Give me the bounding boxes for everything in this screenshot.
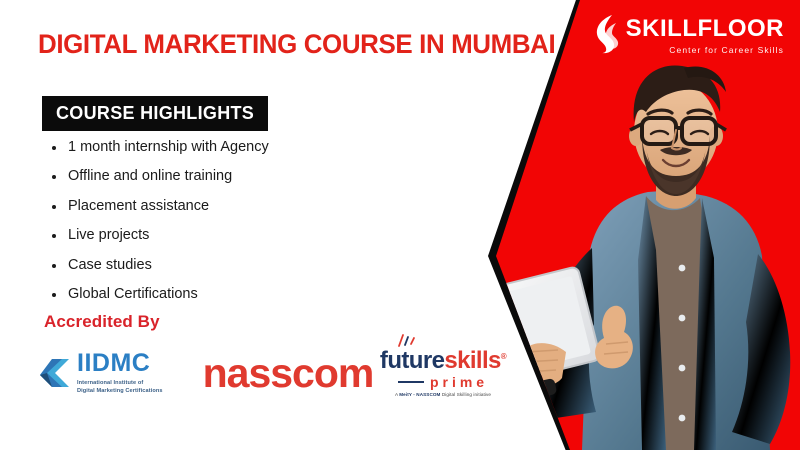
registered-mark: ® bbox=[501, 352, 506, 361]
logo-tagline: Center for Career Skills bbox=[626, 45, 784, 55]
futureskills-initiative-note: A MeitY - NASSCOM Digital Skilling initi… bbox=[378, 393, 508, 398]
list-item: Offline and online training bbox=[48, 169, 269, 185]
futureskills-part-future: future bbox=[380, 347, 444, 374]
list-item: Placement assistance bbox=[48, 199, 269, 215]
iidmc-wordmark: IIDMC bbox=[77, 351, 163, 376]
person-with-tablet-photo bbox=[470, 0, 800, 450]
accreditor-logos: IIDMC International Institute of Digital… bbox=[38, 342, 508, 404]
iidmc-tagline-line1: International Institute of bbox=[77, 379, 163, 387]
list-item: Case studies bbox=[48, 258, 269, 274]
iidmc-tagline-line2: Digital Marketing Certifications bbox=[77, 387, 163, 395]
prime-rule bbox=[398, 381, 424, 383]
promo-banner: SKILLFLOOR Center for Career Skills DIGI… bbox=[0, 0, 800, 450]
iidmc-diamond-arrow-icon bbox=[38, 356, 72, 390]
futureskills-part-prime: prime bbox=[430, 375, 488, 389]
sparkle-icon bbox=[396, 333, 418, 349]
logo-wordmark: SKILLFLOOR bbox=[626, 17, 784, 41]
list-item: Live projects bbox=[48, 228, 269, 244]
accredited-by-heading: Accredited By bbox=[44, 312, 160, 332]
content-area: DIGITAL MARKETING COURSE IN MUMBAI COURS… bbox=[0, 0, 500, 450]
note-bold: MeitY - NASSCOM bbox=[399, 392, 440, 397]
list-item: Global Certifications bbox=[48, 287, 269, 303]
iidmc-logo: IIDMC International Institute of Digital… bbox=[38, 351, 198, 396]
list-item: 1 month internship with Agency bbox=[48, 140, 269, 156]
skillfloor-flame-s-icon bbox=[593, 14, 621, 54]
nasscom-logo: nasscom bbox=[198, 353, 378, 394]
course-highlights-badge: COURSE HIGHLIGHTS bbox=[42, 96, 268, 131]
skillfloor-logo[interactable]: SKILLFLOOR Center for Career Skills bbox=[593, 14, 784, 55]
page-title: DIGITAL MARKETING COURSE IN MUMBAI bbox=[38, 30, 555, 58]
note-suffix: Digital Skilling initiative bbox=[440, 392, 491, 397]
futureskills-prime-logo: futureskills® prime A MeitY - NASSCOM Di… bbox=[378, 349, 508, 398]
highlights-list: 1 month internship with Agency Offline a… bbox=[48, 140, 269, 317]
futureskills-part-skills: skills bbox=[444, 347, 500, 374]
